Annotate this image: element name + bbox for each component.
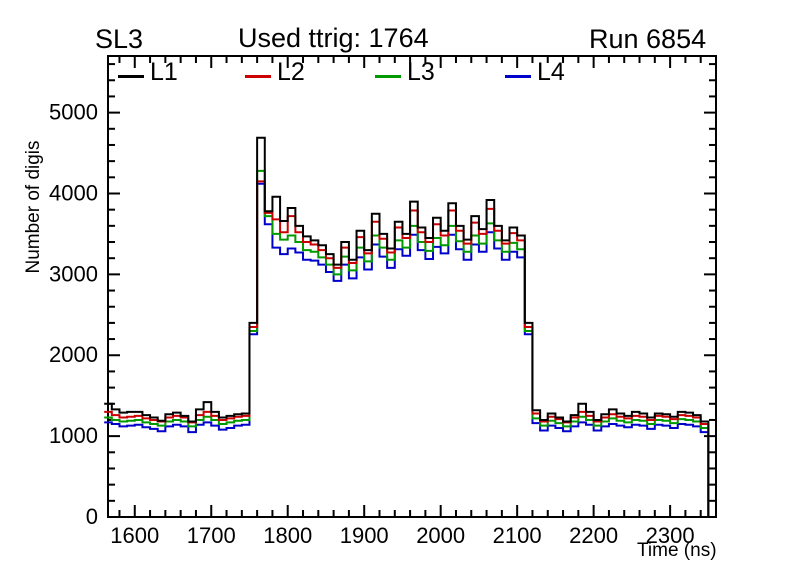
legend-label-l2: L2 <box>277 58 305 86</box>
series-line-l1 <box>104 138 716 517</box>
axis-tick-labels: 0100020003000400050001600170018001900200… <box>49 100 695 548</box>
y-tick-label: 3000 <box>49 261 98 286</box>
legend-swatch-l4 <box>505 75 531 78</box>
x-tick-label: 1800 <box>263 523 312 548</box>
x-tick-label: 2000 <box>416 523 465 548</box>
y-tick-label: 2000 <box>49 342 98 367</box>
x-tick-label: 1900 <box>340 523 389 548</box>
legend-label-l4: L4 <box>537 58 565 86</box>
x-tick-label: 1600 <box>110 523 159 548</box>
legend-swatch-l2 <box>245 75 271 78</box>
y-tick-label: 1000 <box>49 423 98 448</box>
plot-canvas: SL3 Used ttrig: 1764 Run 6854 Number of … <box>0 0 796 572</box>
axis-ticks <box>108 56 716 517</box>
x-tick-label: 2100 <box>493 523 542 548</box>
y-tick-label: 0 <box>86 504 98 529</box>
x-tick-label: 1700 <box>187 523 236 548</box>
plot-frame <box>108 56 716 517</box>
y-tick-label: 5000 <box>49 100 98 125</box>
legend-label-l3: L3 <box>407 58 435 86</box>
legend-item-l4[interactable]: L4 <box>505 58 565 87</box>
x-tick-label: 2200 <box>569 523 618 548</box>
legend-label-l1: L1 <box>150 58 178 86</box>
x-tick-label: 2300 <box>646 523 695 548</box>
legend-item-l3[interactable]: L3 <box>375 58 435 87</box>
legend-swatch-l1 <box>118 75 144 78</box>
y-tick-label: 4000 <box>49 180 98 205</box>
legend-swatch-l3 <box>375 75 401 78</box>
frame-rect <box>108 56 716 517</box>
data-series <box>104 138 716 517</box>
legend-item-l2[interactable]: L2 <box>245 58 305 87</box>
legend-item-l1[interactable]: L1 <box>118 58 178 87</box>
